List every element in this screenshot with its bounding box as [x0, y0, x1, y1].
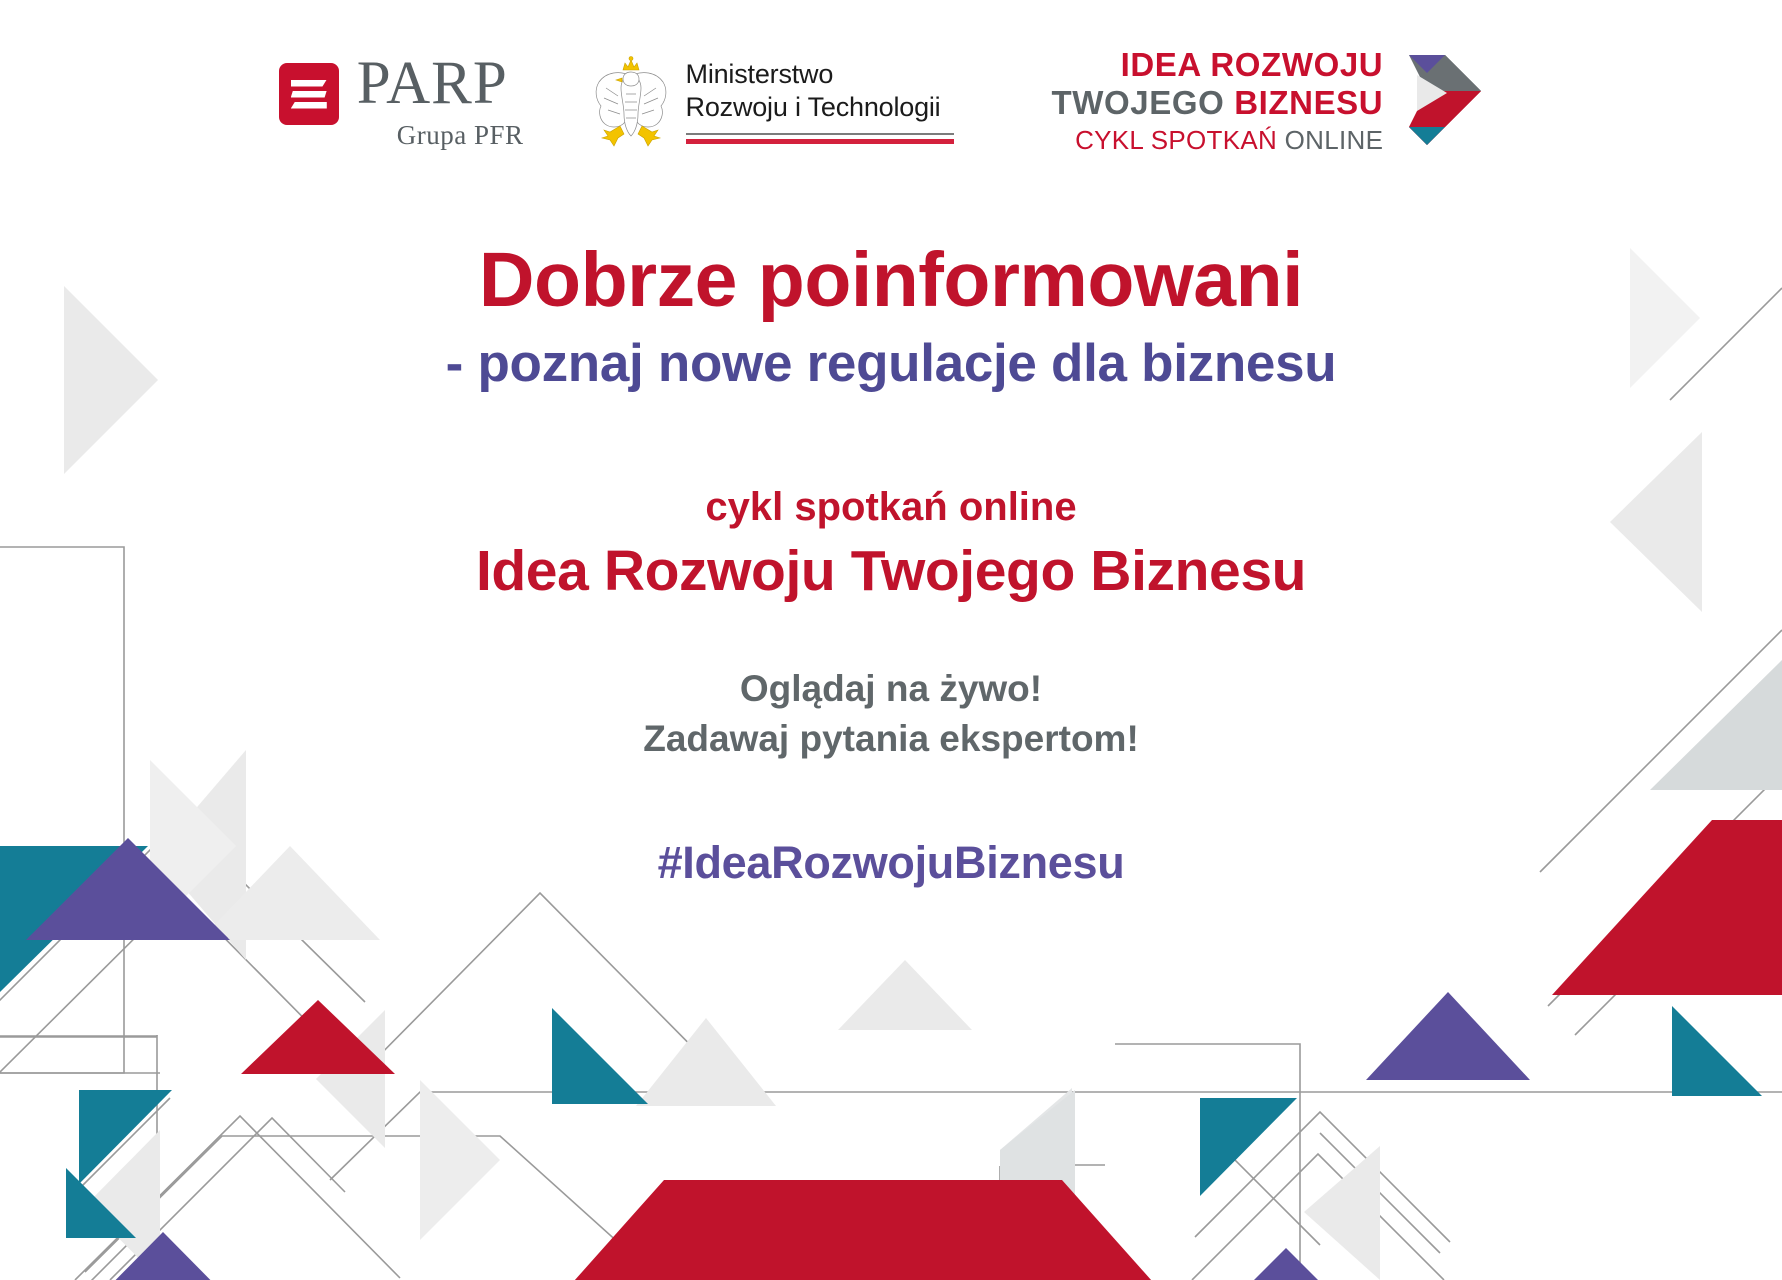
callout-line-2: Zadawaj pytania ekspertom!	[0, 714, 1782, 764]
ministry-rule-red	[686, 139, 954, 144]
decor-triangle	[420, 1080, 500, 1240]
parp-name: PARP	[357, 55, 508, 113]
decor-triangle-purple	[1210, 1248, 1362, 1280]
campaign-logo-line-1: IDEA ROZWOJU	[1121, 46, 1384, 84]
ministry-rule-gray	[686, 133, 954, 135]
main-content: Dobrze poinformowani - poznaj nowe regul…	[0, 240, 1782, 889]
decor-triangle-teal	[552, 1008, 648, 1104]
slide-canvas: PARP Grupa PFR	[0, 0, 1782, 1280]
decor-triangle-purple	[86, 1232, 240, 1280]
campaign-logo-line-2: TWOJEGO BIZNESU	[1052, 84, 1384, 122]
decor-triangle-teal	[1200, 1098, 1297, 1196]
decor-triangle-teal	[1672, 1006, 1762, 1096]
parp-logo: PARP Grupa PFR	[279, 55, 524, 152]
decor-triangle-teal	[66, 1168, 136, 1238]
decor-triangle	[1000, 1088, 1072, 1212]
ministry-line-1: Ministerstwo	[686, 58, 954, 91]
decor-triangle	[636, 1018, 776, 1106]
parp-mark-icon	[279, 63, 339, 125]
decor-triangle-red	[241, 1000, 395, 1074]
hashtag: #IdeaRozwojuBiznesu	[0, 837, 1782, 889]
decor-triangle	[1304, 1146, 1380, 1280]
campaign-logo-line-2-part1: TWOJEGO	[1052, 84, 1235, 121]
cycle-label: cykl spotkań online	[0, 483, 1782, 531]
decor-triangle	[1000, 1090, 1075, 1212]
ministry-logo: Ministerstwo Rozwoju i Technologii	[590, 54, 954, 148]
campaign-logo: IDEA ROZWOJU TWOJEGO BIZNESU CYKL SPOTKA…	[1052, 41, 1504, 163]
campaign-logo-line-2-part2: BIZNESU	[1234, 84, 1383, 121]
callout-line-1: Oglądaj na żywo!	[0, 664, 1782, 714]
headline: Dobrze poinformowani	[0, 240, 1782, 322]
polish-eagle-emblem-icon	[590, 54, 672, 148]
decor-triangle	[86, 1130, 160, 1280]
subheadline: - poznaj nowe regulacje dla biznesu	[0, 332, 1782, 396]
ministry-rules	[686, 133, 954, 144]
campaign-logo-line-3-part1: CYKL SPOTKAŃ	[1075, 125, 1285, 155]
decor-triangle	[316, 1010, 385, 1148]
cycle-title: Idea Rozwoju Twojego Biznesu	[0, 537, 1782, 605]
decor-triangle	[838, 960, 972, 1030]
decor-triangle-teal	[79, 1090, 172, 1184]
chevron-play-mark-icon	[1395, 41, 1503, 163]
logo-bar: PARP Grupa PFR	[0, 0, 1782, 200]
parp-subtitle: Grupa PFR	[397, 120, 524, 151]
campaign-logo-line-3-part2: ONLINE	[1285, 125, 1384, 155]
decor-triangle-purple	[1366, 992, 1530, 1080]
decor-trapezoid-red	[566, 1180, 1160, 1280]
campaign-logo-line-3: CYKL SPOTKAŃ ONLINE	[1075, 124, 1383, 158]
ministry-line-2: Rozwoju i Technologii	[686, 91, 954, 124]
